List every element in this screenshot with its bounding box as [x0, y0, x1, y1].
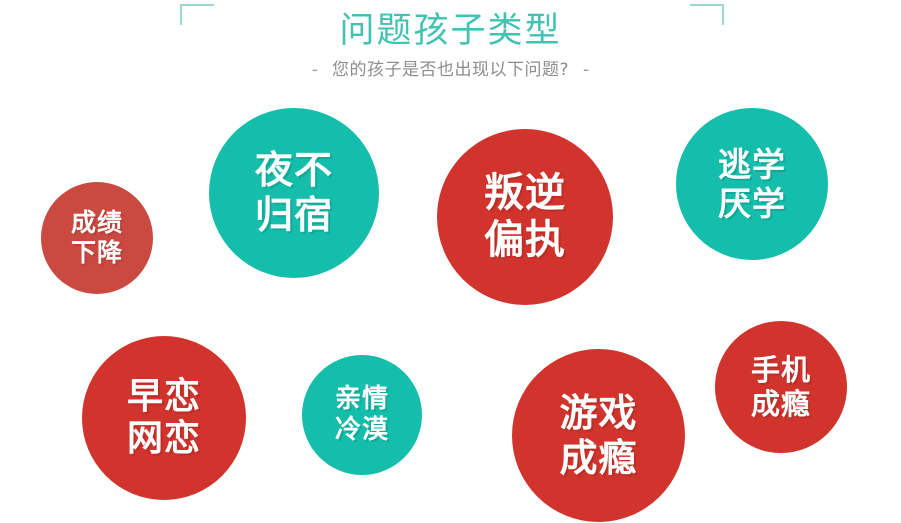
bubble-truancy-school-aversion[interactable]: 逃学厌学 [676, 108, 828, 260]
poster-header: 问题孩子类型 - 您的孩子是否也出现以下问题? - [0, 0, 901, 96]
bubble-label-line2: 偏执 [484, 217, 566, 264]
bubble-puppy-love-online-romance[interactable]: 早恋网恋 [82, 336, 246, 500]
bubble-rebellious-paranoid[interactable]: 叛逆偏执 [437, 129, 613, 305]
bubble-label-line1: 逃学 [718, 145, 786, 184]
bubble-game-addiction[interactable]: 游戏成瘾 [512, 349, 685, 522]
subtitle-row: - 您的孩子是否也出现以下问题? - [0, 58, 901, 82]
bubble-label-line2: 网恋 [127, 418, 201, 460]
bubble-label-line2: 成瘾 [751, 387, 811, 421]
bubble-label-line1: 亲情 [335, 384, 389, 415]
bubble-label-line2: 归宿 [255, 193, 333, 238]
bubble-grades-decline[interactable]: 成绩下降 [41, 182, 153, 294]
subtitle-dash-right: - [583, 58, 589, 82]
bubble-label-line1: 成绩 [71, 208, 123, 238]
problem-child-types-poster: 问题孩子类型 - 您的孩子是否也出现以下问题? - 成绩下降夜不归宿叛逆偏执逃学… [0, 0, 901, 523]
bubble-phone-addiction[interactable]: 手机成瘾 [715, 321, 847, 453]
page-title: 问题孩子类型 [0, 8, 901, 54]
subtitle-dash-left: - [312, 58, 318, 82]
bubble-label-line1: 夜不 [255, 148, 333, 193]
bubble-stay-out-at-night[interactable]: 夜不归宿 [209, 108, 379, 278]
bubble-label-line1: 手机 [751, 353, 811, 387]
bubble-label-line1: 早恋 [127, 376, 201, 418]
bubble-label-line2: 厌学 [718, 184, 786, 223]
bubble-label-line2: 成瘾 [559, 436, 637, 481]
bubble-label-line2: 下降 [71, 238, 123, 268]
page-subtitle: 您的孩子是否也出现以下问题? [332, 58, 569, 82]
bubble-label-line2: 冷漠 [335, 415, 389, 446]
bubble-label-line1: 游戏 [559, 391, 637, 436]
bubble-label-line1: 叛逆 [484, 170, 566, 217]
bubble-family-indifference[interactable]: 亲情冷漠 [302, 355, 422, 475]
